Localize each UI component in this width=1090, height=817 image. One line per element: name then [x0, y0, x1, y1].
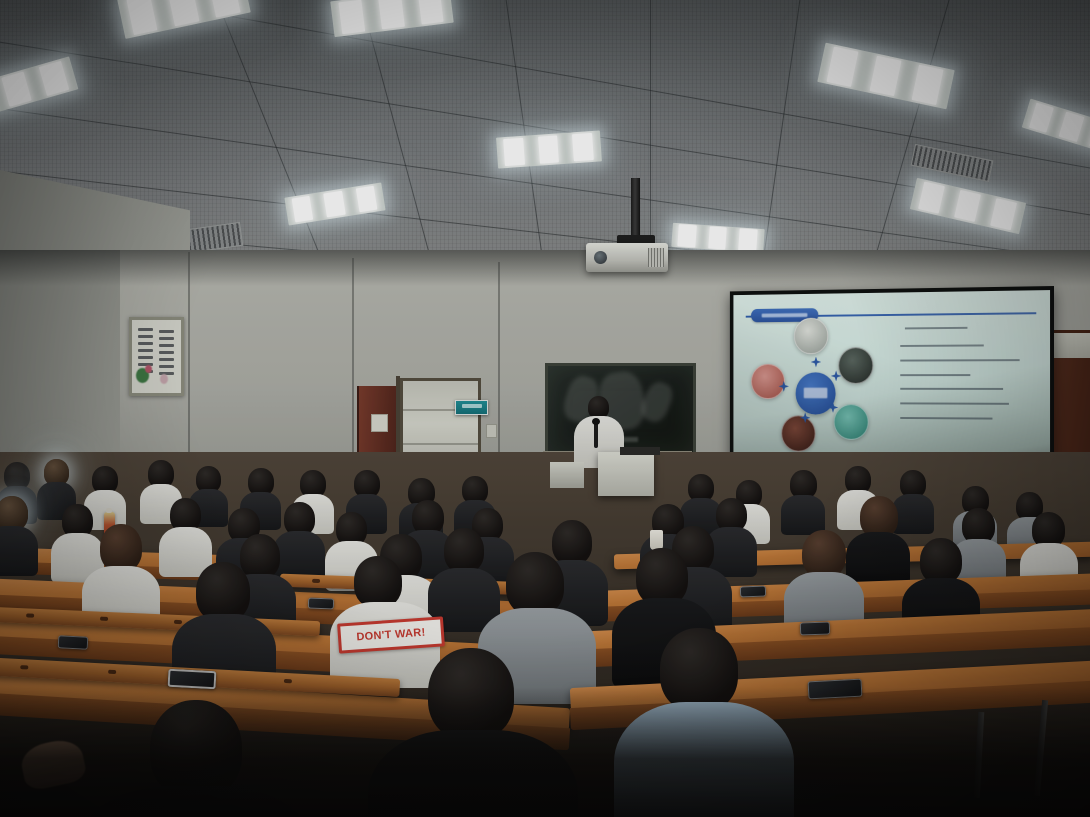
student-torso [0, 526, 38, 576]
bench-bolt [108, 670, 116, 674]
student-head [506, 552, 564, 616]
bench-bolt [20, 665, 28, 669]
lectern-monitor [620, 447, 660, 455]
wall-seam [498, 262, 500, 482]
ceiling-mounted-projector [586, 243, 668, 272]
bench-bolt [26, 613, 34, 617]
bench-bolt [284, 679, 292, 683]
notice-board-graphic [145, 365, 152, 373]
projection-screen [730, 286, 1054, 476]
wall-sign [455, 400, 488, 415]
lecture-hall-photo: DON'T WAR! [0, 0, 1090, 817]
microphone-head [592, 418, 600, 425]
lectern [598, 452, 654, 496]
student-head [196, 562, 250, 622]
student-torso [781, 495, 825, 535]
smartphone-on-desk[interactable] [740, 586, 766, 598]
light-switch[interactable] [486, 424, 497, 438]
chalk-marks [637, 379, 676, 426]
bench-bolt [174, 620, 182, 624]
projector-vent [648, 248, 664, 267]
microphone [594, 422, 598, 448]
projector-mount-pole [631, 178, 640, 240]
screen-glare [733, 290, 1050, 472]
graphic-tshirt-label: DON'T WAR! [356, 627, 426, 644]
student-head [552, 520, 592, 565]
bench-bolt [100, 617, 108, 621]
student-torso [892, 494, 934, 534]
student-head [100, 524, 142, 572]
student-head [802, 530, 846, 578]
projector-lens [594, 251, 607, 264]
paper-cup [650, 530, 663, 550]
framed-notice-board [129, 317, 184, 396]
bottle-cap [106, 508, 112, 513]
front-table [550, 462, 584, 488]
student-head [354, 556, 402, 608]
window-mullion [403, 443, 478, 445]
notice-board-graphic [160, 374, 168, 384]
student-head [444, 528, 484, 573]
bench-bolt [312, 579, 320, 583]
student-head [240, 534, 280, 579]
smartphone-on-desk[interactable] [308, 598, 334, 610]
wall-ceiling-shadow [0, 250, 1090, 286]
door-notice-sign [371, 414, 388, 432]
smartphone-on-desk[interactable] [800, 621, 830, 635]
slide-surface [733, 290, 1050, 472]
notice-board-rows [138, 328, 175, 373]
smartphone-on-desk[interactable] [58, 635, 89, 650]
foreground-shadow [0, 687, 1090, 817]
